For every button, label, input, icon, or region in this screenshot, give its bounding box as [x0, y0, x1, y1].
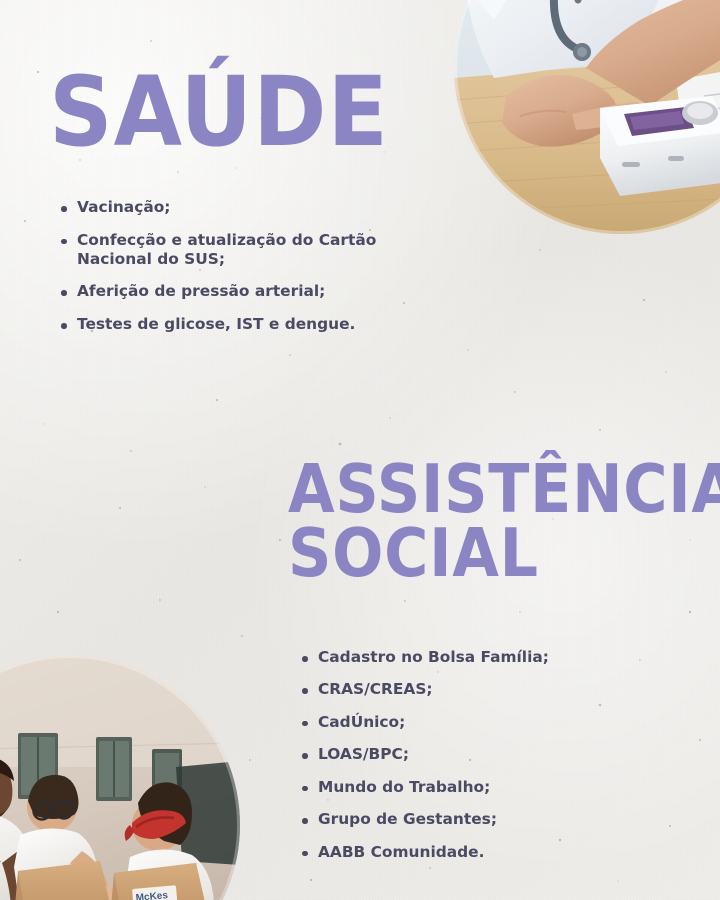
list-item: Confecção e atualização do Cartão Nacion…	[60, 231, 432, 269]
list-item: AABB Comunidade.	[301, 843, 631, 861]
assistencia-social-service-list: Cadastro no Bolsa Família; CRAS/CREAS; C…	[301, 648, 631, 861]
list-item: Mundo do Trabalho;	[301, 778, 631, 796]
page-title-line-1: ASSISTÊNCIA	[288, 457, 720, 521]
page-title-line-2: SOCIAL	[288, 521, 720, 585]
saude-service-list: Vacinação; Confecção e atualização do Ca…	[60, 198, 432, 334]
list-item: Aferição de pressão arterial;	[60, 282, 432, 301]
page-title-assistencia-social: ASSISTÊNCIA SOCIAL	[288, 457, 720, 586]
svg-text:McKes: McKes	[135, 890, 169, 900]
list-item: CadÚnico;	[301, 713, 631, 731]
page-title-saude: SAÚDE	[49, 66, 389, 158]
list-item: Testes de glicose, IST e dengue.	[60, 315, 432, 334]
poster-canvas: SAÚDE Vacinação; Confecção e atualização…	[0, 0, 720, 900]
list-item: Cadastro no Bolsa Família;	[301, 648, 631, 666]
list-item: Vacinação;	[60, 198, 432, 217]
list-item: Grupo de Gestantes;	[301, 810, 631, 828]
list-item: CRAS/CREAS;	[301, 680, 631, 698]
list-item: LOAS/BPC;	[301, 745, 631, 763]
